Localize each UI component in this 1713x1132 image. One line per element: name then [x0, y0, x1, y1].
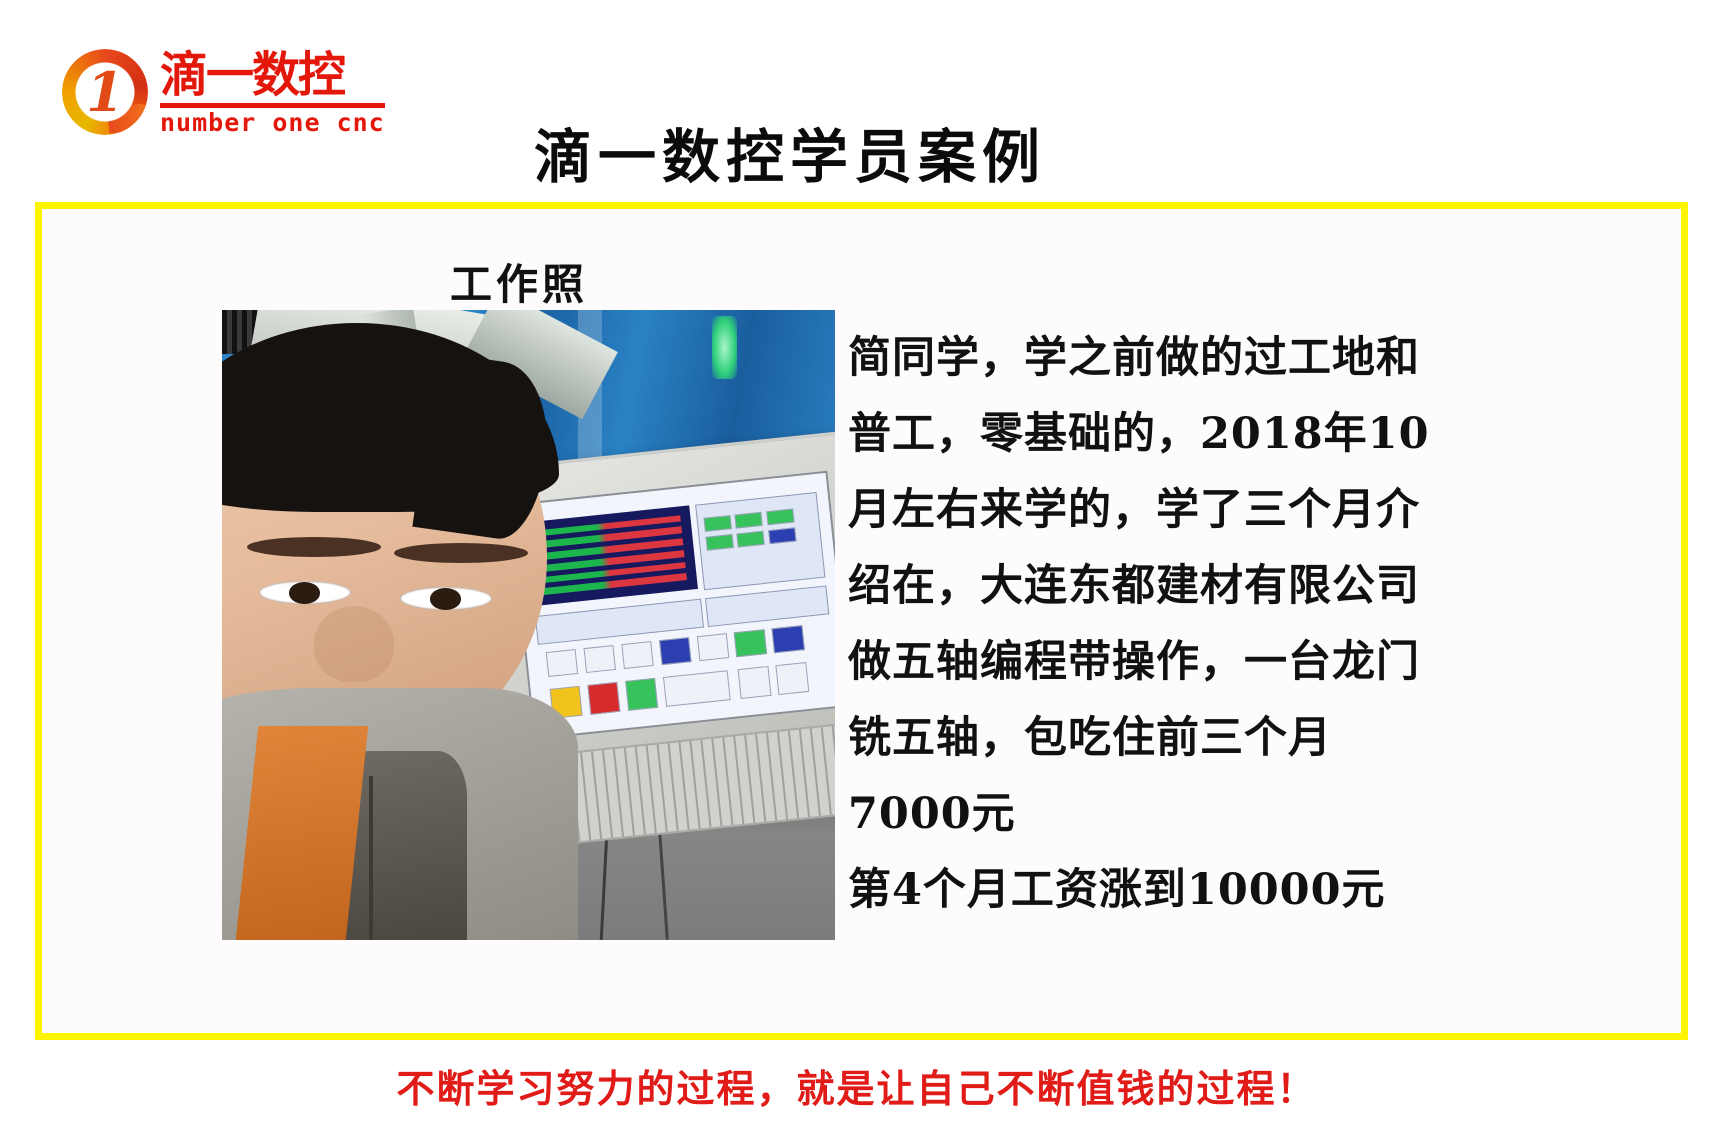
testimonial-line: 月左右来学的，学了三个月介: [848, 472, 1548, 548]
photo-person-nose: [314, 606, 394, 682]
logo-wordmark: 滴一数控 number one cnc: [160, 49, 385, 136]
testimonial-line: 做五轴编程带操作，一台龙门: [848, 624, 1548, 700]
logo-divider: [160, 103, 385, 108]
photo-person-pupil: [430, 588, 461, 609]
testimonial-line: 简同学，学之前做的过工地和: [848, 320, 1548, 396]
logo-digit-one: 1: [84, 63, 126, 121]
photo-person-eyebrow: [247, 537, 382, 557]
photo-green-indicator-lamp: [712, 316, 737, 379]
testimonial-line: 第4个月工资涨到10000元: [848, 852, 1548, 928]
logo-chinese-name: 滴一数控: [160, 49, 385, 101]
testimonial-line: 铣五轴，包吃住前三个月: [848, 700, 1548, 776]
footer-slogan: 不断学习努力的过程，就是让自己不断值钱的过程！: [0, 1058, 1713, 1113]
photo-person-pupil: [289, 582, 320, 603]
photo-cnc-coordinate-readout: [525, 505, 697, 606]
testimonial-line: 绍在，大连东都建材有限公司: [848, 548, 1548, 624]
testimonial-line: 普工，零基础的，2018年10: [848, 396, 1548, 472]
page-header: 1 滴一数控 number one cnc 滴一数控学员案例: [0, 0, 1713, 200]
photo-cnc-screen: [508, 470, 835, 739]
work-photo: [222, 310, 835, 940]
testimonial-line: 7000元: [848, 776, 1548, 852]
logo-swirl-icon: 1: [62, 49, 148, 135]
page-title: 滴一数控学员案例: [440, 110, 1140, 194]
logo-english-name: number one cnc: [160, 110, 385, 136]
photo-person-jacket-zipper: [369, 776, 373, 940]
photo-person-jacket-orange-panel: [235, 726, 368, 940]
testimonial-text: 简同学，学之前做的过工地和 普工，零基础的，2018年10 月左右来学的，学了三…: [848, 320, 1548, 928]
brand-logo: 1 滴一数控 number one cnc: [62, 42, 372, 142]
photo-caption: 工作照: [450, 251, 588, 312]
